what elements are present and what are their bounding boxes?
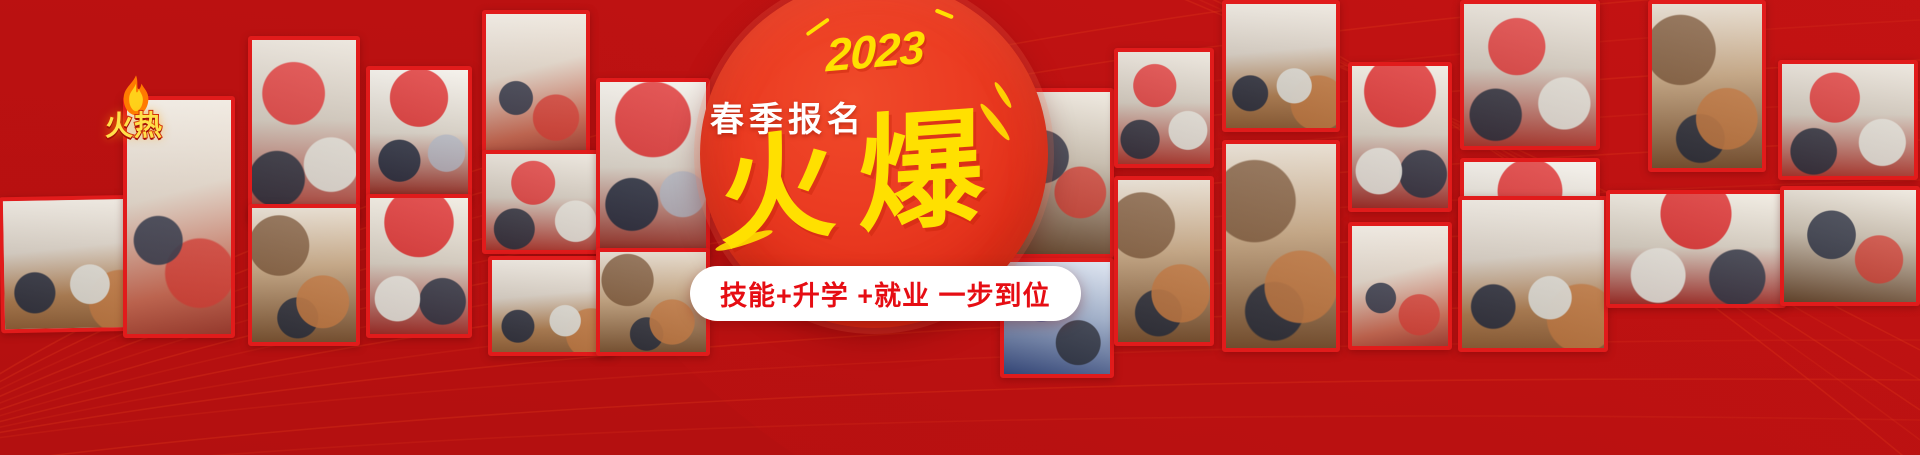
photo-image xyxy=(1118,52,1210,164)
photo-image xyxy=(600,252,706,352)
photo-image xyxy=(1352,66,1448,208)
hot-badge-label: 火热 xyxy=(105,112,163,140)
photo-image xyxy=(1610,194,1782,304)
big-word-huo: 火 xyxy=(717,131,838,252)
photo-image xyxy=(1352,226,1448,346)
photo-tile xyxy=(1222,140,1340,352)
photo-tile xyxy=(1114,48,1214,168)
photo-tile xyxy=(482,10,590,158)
photo-image xyxy=(1118,180,1210,342)
hot-badge: 火热 xyxy=(88,78,180,140)
photo-tile xyxy=(1222,0,1340,132)
photo-tile xyxy=(482,150,608,254)
photo-image xyxy=(1226,144,1336,348)
photo-tile xyxy=(366,194,472,338)
benefits-pill-label: 技能+升学 +就业 一步到位 xyxy=(720,281,1051,311)
photo-tile xyxy=(1648,0,1766,172)
promo-banner: 火热 2023 春季报名 火 爆 进行中····· 技能+升学 +就业 一步到位 xyxy=(0,0,1920,455)
photo-tile xyxy=(248,36,360,222)
photo-tile xyxy=(1348,222,1452,350)
photo-image xyxy=(1652,4,1762,168)
photo-tile xyxy=(1460,0,1600,150)
photo-image xyxy=(370,198,468,334)
photo-tile xyxy=(1778,60,1918,180)
photo-tile xyxy=(596,78,710,256)
photo-tile xyxy=(1114,176,1214,346)
photo-image xyxy=(492,260,610,352)
benefits-pill[interactable]: 技能+升学 +就业 一步到位 xyxy=(690,266,1081,321)
photo-tile xyxy=(1780,186,1920,306)
photo-tile xyxy=(1606,190,1786,308)
photo-image xyxy=(486,154,604,250)
photo-tile xyxy=(366,66,472,200)
photo-image xyxy=(370,70,468,196)
photo-tile xyxy=(1348,62,1452,212)
photo-image xyxy=(1784,190,1916,302)
big-word-bao: 爆 xyxy=(858,111,984,233)
photo-image xyxy=(1462,200,1604,348)
photo-image xyxy=(1226,4,1336,128)
photo-image xyxy=(600,82,706,252)
photo-image xyxy=(252,40,356,218)
photo-image xyxy=(1782,64,1914,176)
photo-tile xyxy=(1458,196,1608,352)
photo-image xyxy=(1464,4,1596,146)
photo-image xyxy=(486,14,586,154)
photo-tile xyxy=(248,204,360,346)
photo-image xyxy=(252,208,356,342)
